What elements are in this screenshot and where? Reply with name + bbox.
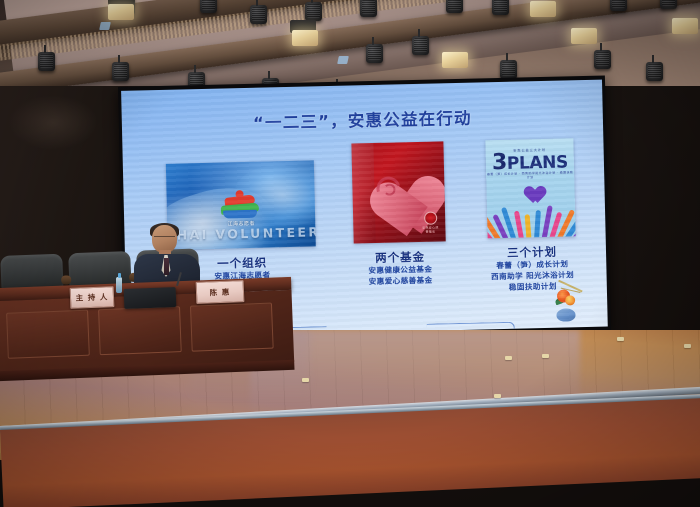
lit-spotlight-icon [108,4,134,20]
paper-scrap [617,337,624,341]
charity-fund-logo: 安惠爱心慈善基金 [421,212,440,235]
lit-spotlight-icon [571,28,597,44]
speaker-nameplate: 陈 惠 [196,280,245,304]
spotlight-icon [366,44,383,63]
spotlight-icon [446,0,463,13]
column-line: 安惠爱心慈善基金 [341,275,461,289]
moderator-nameplate: 主 持 人 [70,286,115,309]
head-table [0,247,297,388]
slide-column-three-plans: 安惠公益三大计划 3PLANS 春蕾（笋）成长计划 · 西南助学阳光沐浴计划 ·… [474,138,588,294]
blue-gel-filter [337,56,349,64]
red-heart-poster: 安惠爱心慈善基金 [351,141,445,243]
wall-light-glow [8,95,98,150]
spotlight-icon [500,60,517,79]
lit-spotlight-icon [672,18,698,34]
spotlight-icon [200,0,217,13]
charity-logo-mark-icon [424,212,437,225]
spotlight-icon [594,50,611,69]
paper-scrap [542,354,549,358]
paper-scrap [505,356,512,360]
flower-vase [556,308,575,321]
spotlight-icon [412,36,429,55]
paper-scrap [684,344,691,348]
spotlight-icon [38,52,55,71]
spotlight-icon [360,0,377,17]
spotlight-icon [112,62,129,81]
paper-scrap [302,378,309,382]
spotlight-icon [610,0,627,11]
colorful-hands-graphic [486,182,575,238]
flower-bloom [565,295,575,305]
three-plans-poster: 安惠公益三大计划 3PLANS 春蕾（笋）成长计划 · 西南助学阳光沐浴计划 ·… [485,138,575,238]
spotlight-icon [492,0,509,15]
spotlight-icon [660,0,677,9]
spotlight-icon [305,2,322,21]
blue-gel-filter [99,22,111,30]
conference-hall-scene: “一二三”，安惠公益在行动 江海志愿者 NGHA [0,0,700,507]
water-bottle [116,277,122,293]
lit-spotlight-icon [442,52,468,68]
speaker-glasses [154,236,175,241]
laptop [124,287,177,309]
table-panel [98,306,182,355]
slide-column-two-funds: 安惠爱心慈善基金 两个基金 安惠健康公益基金 安惠爱心慈善基金 [337,141,460,288]
paper-scrap [494,394,501,398]
flower-arrangement [553,277,590,322]
volunteer-logo-icon: 江海志愿者 [218,190,263,225]
spotlight-icon [646,62,663,81]
lit-spotlight-icon [292,30,318,46]
spotlight-icon [250,5,267,24]
table-panel [190,303,274,352]
slide-title: “一二三”，安惠公益在行动 [122,102,603,137]
table-panel [6,310,90,359]
charity-logo-caption: 安惠爱心慈善基金 [421,227,439,235]
lit-spotlight-icon [530,1,556,17]
